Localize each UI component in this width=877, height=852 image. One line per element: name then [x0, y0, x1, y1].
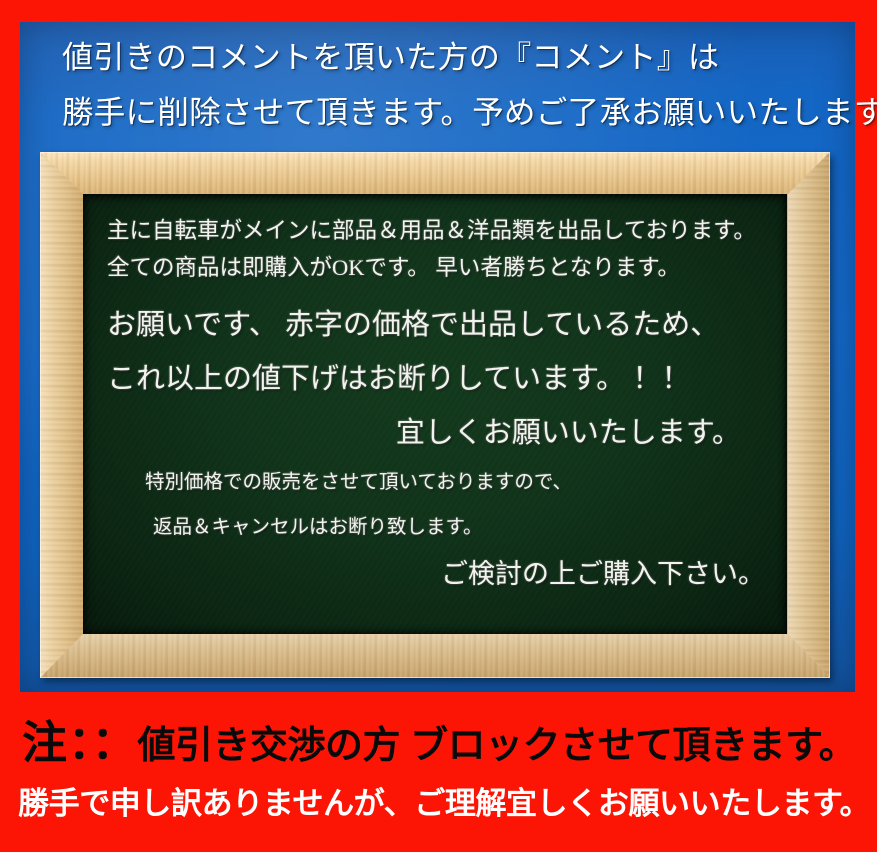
frame-rail-top — [40, 152, 830, 194]
frame-rail-left — [40, 152, 83, 678]
warning-headline: 注：：値引き交渉の方 ブロックさせて頂きます。 — [22, 706, 856, 771]
board-line-2: 全ての商品は即購入がOKです。 早い者勝ちとなります。 — [107, 249, 775, 286]
board-line-7: 返品＆キャンセルはお断り致します。 — [107, 505, 775, 550]
board-line-4: これ以上の値下げはお断りしています。 ！！ — [107, 352, 775, 406]
frame-rail-right — [788, 152, 830, 678]
blue-headline-line-1: 値引きのコメントを頂いた方の『コメント』は — [62, 30, 852, 85]
green-chalkboard: 主に自転車がメインに部品＆用品＆洋品類を出品しております。 全ての商品は即購入が… — [83, 194, 787, 634]
wooden-picture-frame: 主に自転車がメインに部品＆用品＆洋品類を出品しております。 全ての商品は即購入が… — [40, 152, 830, 678]
red-warning-band: 注：：値引き交渉の方 ブロックさせて頂きます。 勝手で申し訳ありませんが、ご理解… — [0, 692, 877, 852]
blue-headline-line-2: 勝手に削除させて頂きます。予めご了承お願いいたします。 — [62, 85, 852, 140]
board-line-8: ご検討の上ご購入下さい。 — [107, 550, 775, 598]
board-line-1: 主に自転車がメインに部品＆用品＆洋品類を出品しております。 — [107, 212, 775, 249]
blue-headline-block: 値引きのコメントを頂いた方の『コメント』は 勝手に削除させて頂きます。予めご了承… — [62, 30, 852, 140]
board-spacer-1 — [107, 286, 775, 298]
board-line-3: お願いです、 赤字の価格で出品しているため、 — [107, 298, 775, 352]
frame-rail-bottom — [40, 634, 830, 678]
board-line-6: 特別価格での販売をさせて頂いておりますので、 — [107, 460, 775, 505]
chalkboard-text-block: 主に自転車がメインに部品＆用品＆洋品類を出品しております。 全ての商品は即購入が… — [83, 194, 787, 598]
warning-prefix: 注：： — [22, 717, 138, 768]
warning-main-text: 値引き交渉の方 ブロックさせて頂きます。 — [138, 725, 857, 767]
poster-root: 値引きのコメントを頂いた方の『コメント』は 勝手に削除させて頂きます。予めご了承… — [0, 0, 877, 852]
apology-line: 勝手で申し訳ありませんが、ご理解宜しくお願いいたします。 — [18, 778, 870, 823]
board-line-5: 宜しくお願いいたします。 — [107, 406, 775, 460]
